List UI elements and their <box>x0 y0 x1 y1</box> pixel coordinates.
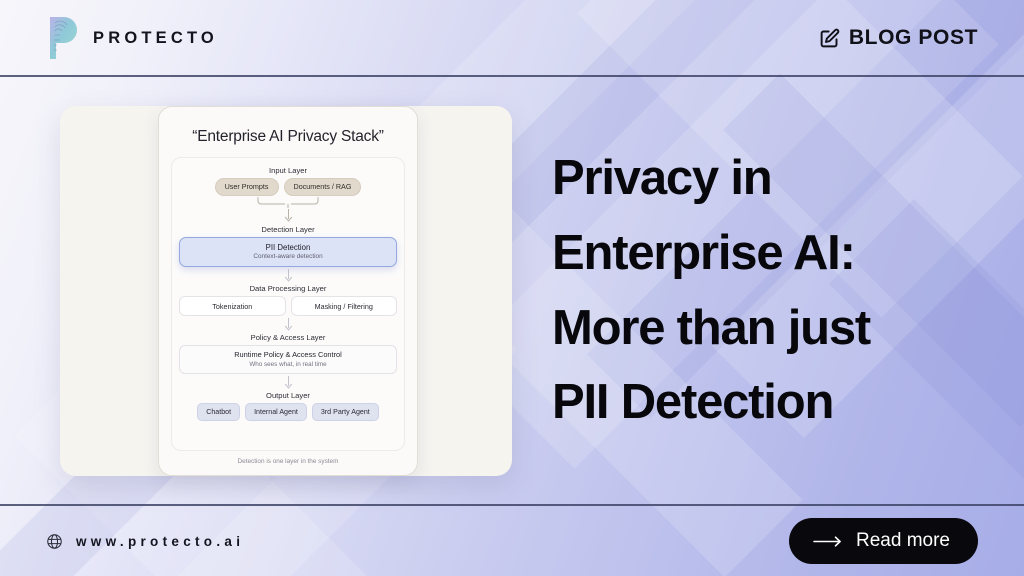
read-more-button[interactable]: Read more <box>789 518 978 564</box>
node-3rd-party-agent[interactable]: 3rd Party Agent <box>312 403 379 421</box>
arrow-down-icon-1 <box>284 209 293 224</box>
headline-line-1: Privacy in <box>552 141 972 216</box>
layer-label-output: Output Layer <box>266 391 310 400</box>
diagram-body: Input Layer User Prompts Documents / RAG… <box>171 157 405 451</box>
node-runtime-policy[interactable]: Runtime Policy & Access Control Who sees… <box>179 345 397 374</box>
node-internal-agent[interactable]: Internal Agent <box>245 403 307 421</box>
node-runtime-policy-subtitle: Who sees what, in real time <box>188 361 388 368</box>
layer-label-policy-access: Policy & Access Layer <box>251 333 326 342</box>
read-more-label: Read more <box>856 530 950 552</box>
node-masking-filtering[interactable]: Masking / Filtering <box>291 296 398 316</box>
headline-line-4: PII Detection <box>552 365 972 440</box>
page-footer: www.protecto.ai Read more <box>0 506 1024 576</box>
diagram-card: “Enterprise AI Privacy Stack” Input Laye… <box>158 106 418 476</box>
layer-row-output: Chatbot Internal Agent 3rd Party Agent <box>179 403 397 421</box>
layer-label-input: Input Layer <box>269 166 307 175</box>
node-pii-detection-subtitle: Context-aware detection <box>188 253 388 260</box>
arrow-down-icon-3 <box>284 317 293 332</box>
brand-name: PROTECTO <box>93 29 218 48</box>
node-runtime-policy-title: Runtime Policy & Access Control <box>188 350 388 359</box>
node-user-prompts[interactable]: User Prompts <box>215 178 279 196</box>
node-chatbot[interactable]: Chatbot <box>197 403 240 421</box>
layer-row-data-processing: Tokenization Masking / Filtering <box>179 296 397 316</box>
headline-line-3: More than just <box>552 291 972 366</box>
headline-line-2: Enterprise AI: <box>552 216 972 291</box>
node-pii-detection-title: PII Detection <box>188 243 388 252</box>
site-url-group[interactable]: www.protecto.ai <box>46 533 244 550</box>
edit-square-icon <box>819 28 840 49</box>
arrow-right-icon <box>813 535 843 548</box>
node-documents-rag[interactable]: Documents / RAG <box>284 178 362 196</box>
blog-post-badge: BLOG POST <box>819 26 978 50</box>
diagram-title: “Enterprise AI Privacy Stack” <box>171 128 405 146</box>
brand[interactable]: PROTECTO <box>46 15 218 61</box>
node-pii-detection[interactable]: PII Detection Context-aware detection <box>179 237 397 268</box>
globe-icon <box>46 533 63 550</box>
page-header: PROTECTO BLOG POST <box>0 0 1024 76</box>
arrow-down-icon-4 <box>284 375 293 390</box>
site-url-text: www.protecto.ai <box>76 534 244 549</box>
layer-label-detection: Detection Layer <box>261 225 314 234</box>
main-content: “Enterprise AI Privacy Stack” Input Laye… <box>0 77 1024 504</box>
layer-label-data-processing: Data Processing Layer <box>250 284 327 293</box>
layer-row-input: User Prompts Documents / RAG <box>179 178 397 196</box>
diagram-footnote: Detection is one layer in the system <box>171 458 405 465</box>
diagram-visual: “Enterprise AI Privacy Stack” Input Laye… <box>60 106 512 476</box>
arrow-down-icon-2 <box>284 268 293 283</box>
blog-post-label: BLOG POST <box>849 26 978 50</box>
protecto-p-fingerprint-logo <box>46 15 80 61</box>
node-tokenization[interactable]: Tokenization <box>179 296 286 316</box>
merge-connector <box>233 197 343 208</box>
page-title: Privacy in Enterprise AI: More than just… <box>552 141 972 441</box>
